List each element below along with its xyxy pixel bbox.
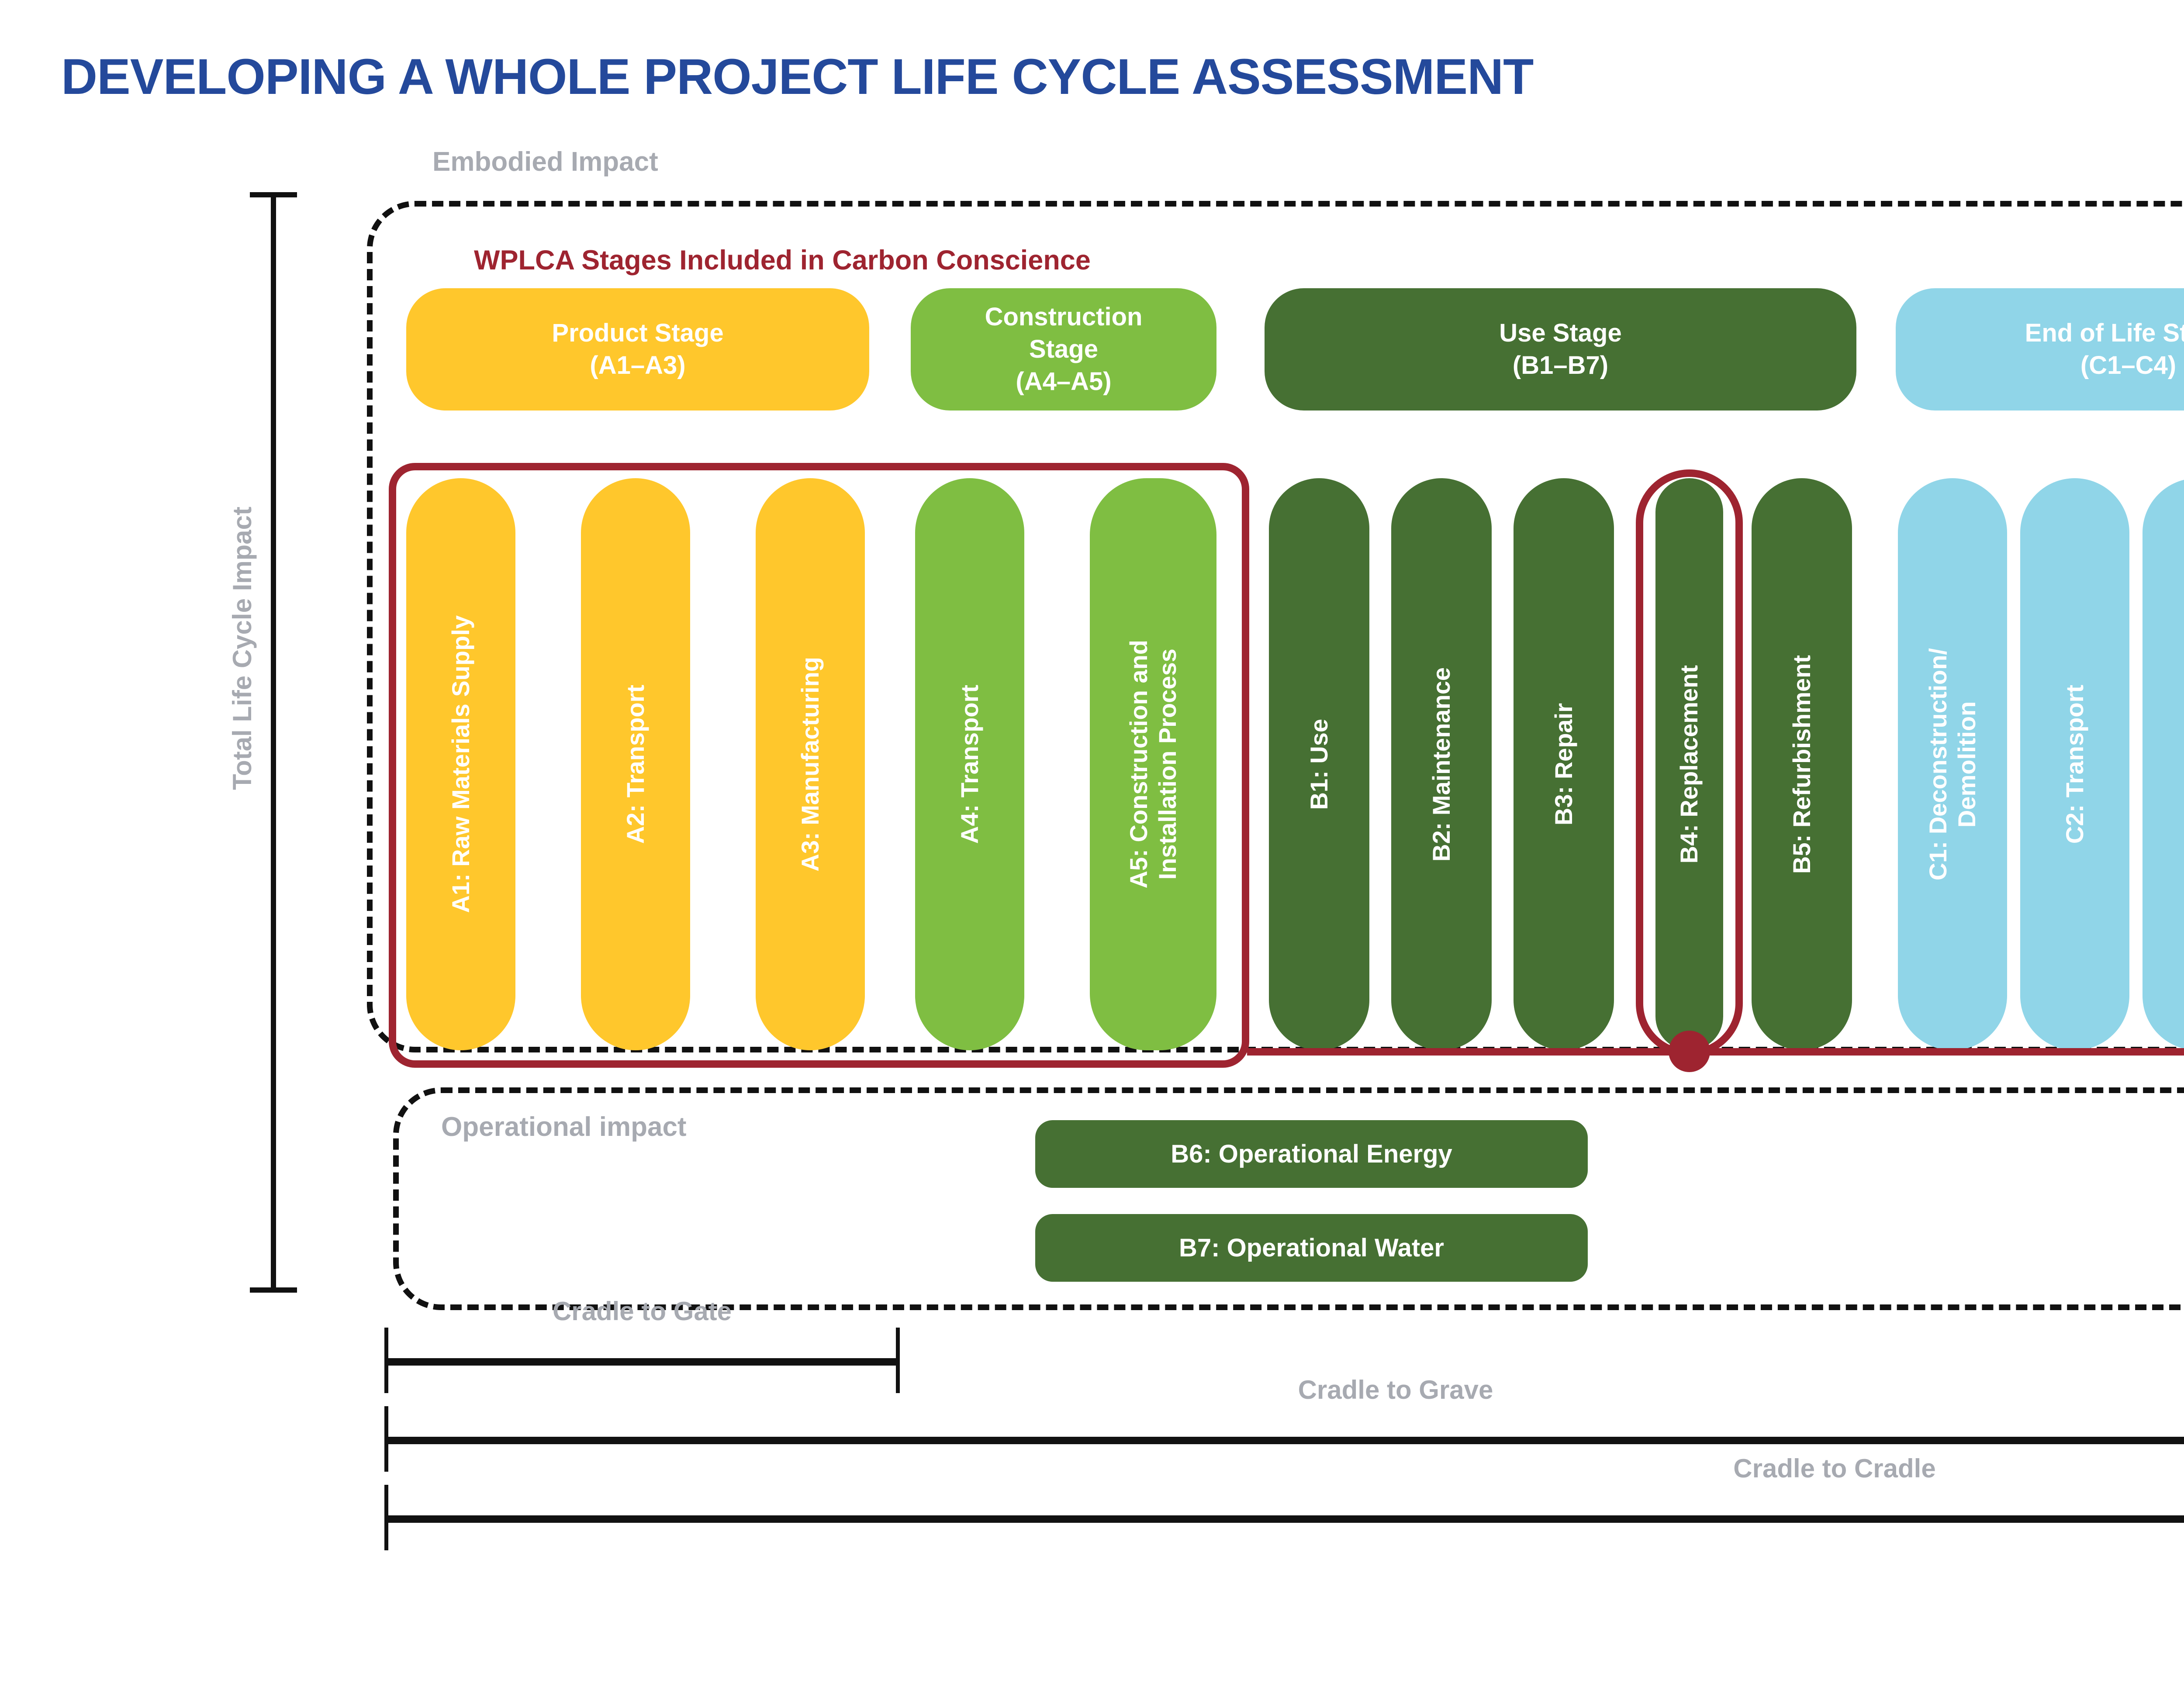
- operational-item-b7[interactable]: B7: Operational Water: [1035, 1214, 1588, 1282]
- embodied-impact-label: Embodied Impact: [432, 146, 658, 177]
- connector-node-b4: [1669, 1031, 1710, 1072]
- stage-header-line2: (B1–B7): [1513, 349, 1608, 382]
- stage-header-line1: Use Stage: [1499, 317, 1621, 349]
- scope-measure-label: Cradle to Gate: [384, 1296, 900, 1326]
- stage-header-line1: End of Life Stage: [2025, 317, 2184, 349]
- measure-line: [384, 1437, 2184, 1444]
- substage-c2[interactable]: C2: Transport: [2020, 478, 2129, 1050]
- stage-header-line1: Construction: [985, 301, 1143, 333]
- stage-header-use-stage[interactable]: Use Stage (B1–B7): [1265, 288, 1856, 411]
- carbon-conscience-scope-bracket-b4: [1636, 469, 1743, 1057]
- substage-b2[interactable]: B2: Maintenance: [1391, 478, 1492, 1050]
- scope-measure-label: Cradle to Cradle: [384, 1453, 2184, 1483]
- substage-b1[interactable]: B1: Use: [1269, 478, 1369, 1050]
- diagram-canvas: DEVELOPING A WHOLE PROJECT LIFE CYCLE AS…: [0, 0, 2184, 1687]
- operational-item-label: B6: Operational Energy: [1171, 1139, 1452, 1169]
- stage-header-line2: (A1–A3): [590, 349, 685, 382]
- stage-header-line3: (A4–A5): [1016, 366, 1111, 398]
- operational-item-label: B7: Operational Water: [1179, 1233, 1444, 1263]
- measure-cap-top: [250, 192, 297, 197]
- substage-label: C2: Transport: [2060, 685, 2089, 844]
- stage-header-line2: (C1–C4): [2080, 349, 2176, 382]
- scope-measure-label: Cradle to Grave: [384, 1375, 2184, 1405]
- total-life-cycle-impact-label: Total Life Cycle Impact: [227, 507, 257, 790]
- wplca-scope-label: WPLCA Stages Included in Carbon Conscien…: [474, 245, 1091, 276]
- carbon-conscience-connector-line: [1247, 1048, 2184, 1056]
- stage-header-line2: Stage: [1029, 333, 1098, 366]
- total-life-cycle-measure-bar: [271, 192, 276, 1293]
- operational-item-b6[interactable]: B6: Operational Energy: [1035, 1120, 1588, 1188]
- measure-line: [384, 1515, 2184, 1523]
- substage-c3[interactable]: C3: Waste Processing: [2143, 478, 2184, 1050]
- operational-impact-label: Operational impact: [441, 1111, 687, 1142]
- stage-header-end-of-life-stage[interactable]: End of Life Stage (C1–C4): [1896, 288, 2184, 411]
- scope-measure-cradle-to-cradle: Cradle to Cradle: [384, 1485, 2184, 1550]
- carbon-conscience-scope-bracket-a: [389, 463, 1249, 1068]
- substage-b5[interactable]: B5: Refurbishment: [1752, 478, 1852, 1050]
- measure-line: [384, 1358, 900, 1366]
- substage-label: B2: Maintenance: [1427, 667, 1456, 862]
- substage-label: B3: Repair: [1549, 703, 1578, 825]
- substage-b3[interactable]: B3: Repair: [1514, 478, 1614, 1050]
- page-title: DEVELOPING A WHOLE PROJECT LIFE CYCLE AS…: [61, 48, 1533, 106]
- substage-c1[interactable]: C1: Deconstruction/ Demolition: [1898, 478, 2007, 1050]
- measure-cap-bottom: [250, 1287, 297, 1293]
- stage-header-product-stage[interactable]: Product Stage (A1–A3): [406, 288, 869, 411]
- substage-label: C1: Deconstruction/ Demolition: [1924, 648, 1981, 880]
- substage-label: B1: Use: [1305, 719, 1334, 810]
- stage-header-line1: Product Stage: [552, 317, 723, 349]
- substage-label: B5: Refurbishment: [1787, 655, 1816, 874]
- stage-header-construction-stage[interactable]: Construction Stage (A4–A5): [911, 288, 1216, 411]
